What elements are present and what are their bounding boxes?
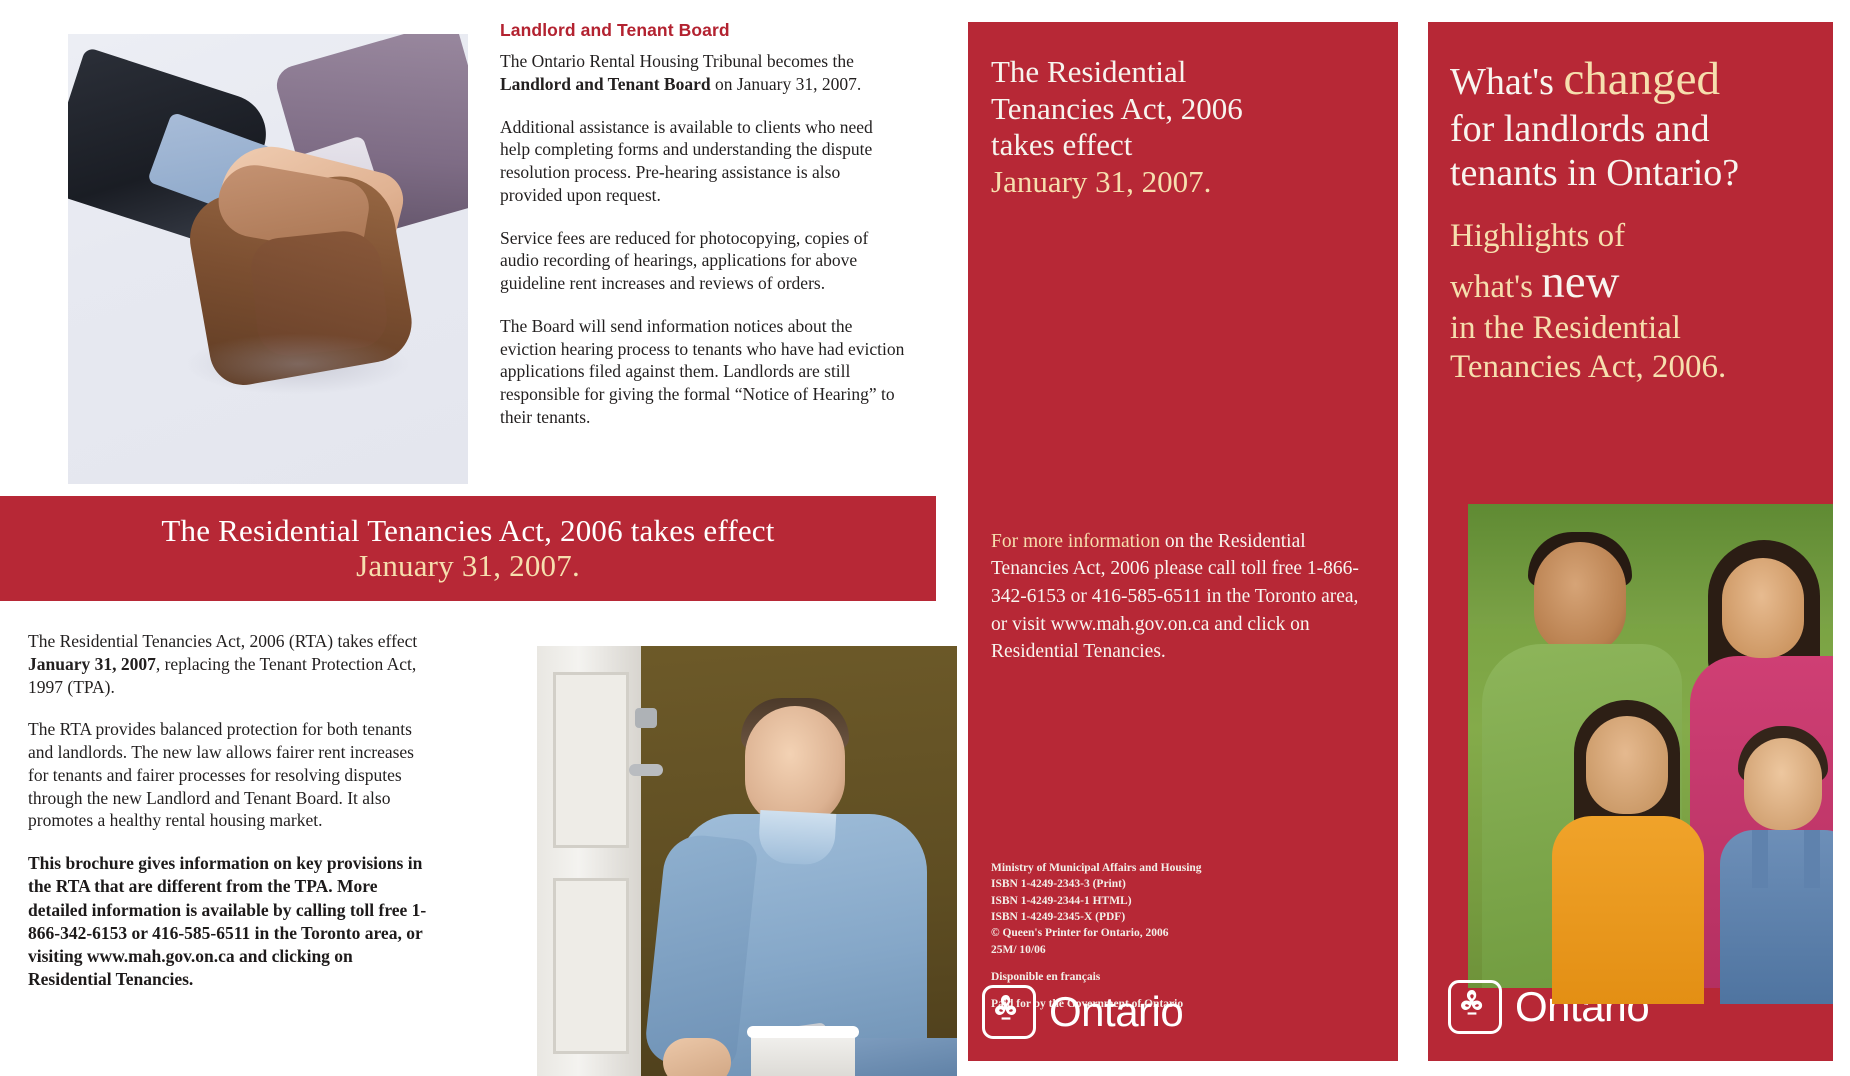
painter-door-handle bbox=[629, 764, 663, 776]
panel-inner-spread: Landlord and Tenant Board The Ontario Re… bbox=[0, 0, 945, 1073]
front-headline-whats-2: what's bbox=[1450, 269, 1541, 305]
family-photo bbox=[1468, 504, 1833, 1004]
paragraph-balanced-protection: The RTA provides balanced protection for… bbox=[28, 718, 434, 832]
paragraph-brochure-contact-bold: This brochure gives information on key p… bbox=[28, 852, 434, 992]
front-headline-line-2: for landlords and bbox=[1450, 107, 1818, 151]
back-headline-line-2: Tenancies Act, 2006 bbox=[991, 91, 1361, 128]
family-baby-overall-strap-left bbox=[1752, 830, 1768, 888]
paragraph-rta-takes-effect: The Residential Tenancies Act, 2006 (RTA… bbox=[28, 630, 434, 698]
fine-print-copyright: © Queen's Printer for Ontario, 2006 bbox=[991, 925, 1321, 941]
landlord-tenant-board-column: Landlord and Tenant Board The Ontario Re… bbox=[500, 20, 905, 429]
family-baby-head bbox=[1744, 738, 1822, 830]
paragraph-1-bold: Landlord and Tenant Board bbox=[500, 74, 711, 94]
front-headline-line-5: what's new bbox=[1450, 255, 1818, 310]
banner-line-2: January 31, 2007. bbox=[356, 549, 580, 584]
painter-hand bbox=[663, 1038, 731, 1076]
ontario-logo-back-cover: Ontario bbox=[982, 985, 1183, 1039]
front-headline-whats: What's bbox=[1450, 61, 1563, 103]
back-cover-headline: The Residential Tenancies Act, 2006 take… bbox=[991, 54, 1361, 200]
paragraph-service-fees: Service fees are reduced for photocopyin… bbox=[500, 227, 905, 295]
fine-print-isbn-html: ISBN 1-4249-2344-1 HTML) bbox=[991, 893, 1321, 909]
front-headline-changed: changed bbox=[1563, 53, 1720, 105]
family-girl-head bbox=[1586, 716, 1668, 814]
family-baby-overall-strap-right bbox=[1804, 830, 1820, 888]
panel-front-cover: What's changed for landlords and tenants… bbox=[1428, 22, 1833, 1061]
lower-p1-bold: January 31, 2007 bbox=[28, 654, 156, 674]
front-headline-spacer bbox=[1450, 195, 1818, 217]
trillium-icon bbox=[982, 985, 1036, 1039]
back-headline-line-4: January 31, 2007. bbox=[991, 164, 1361, 201]
paragraph-1-post: on January 31, 2007. bbox=[711, 74, 862, 94]
paragraph-eviction-notices: The Board will send information notices … bbox=[500, 315, 905, 429]
fine-print-isbn-print: ISBN 1-4249-2343-3 (Print) bbox=[991, 876, 1321, 892]
brochure-page: Landlord and Tenant Board The Ontario Re… bbox=[0, 0, 1850, 1073]
contact-lead-text: For more information bbox=[991, 531, 1160, 552]
lower-p1-pre: The Residential Tenancies Act, 2006 (RTA… bbox=[28, 631, 417, 651]
fine-print-spacer-1 bbox=[991, 958, 1321, 969]
family-girl-body bbox=[1552, 816, 1704, 1004]
paragraph-tribunal-becomes-board: The Ontario Rental Housing Tribunal beco… bbox=[500, 50, 905, 96]
front-headline-line-1: What's changed bbox=[1450, 52, 1818, 107]
front-headline-new: new bbox=[1541, 256, 1619, 308]
fine-print-print-run: 25M/ 10/06 bbox=[991, 942, 1321, 958]
back-contact-information: For more information on the Residential … bbox=[991, 528, 1371, 666]
painter-door-lock bbox=[635, 708, 657, 728]
banner-line-1: The Residential Tenancies Act, 2006 take… bbox=[161, 514, 774, 549]
fine-print-isbn-pdf: ISBN 1-4249-2345-X (PDF) bbox=[991, 909, 1321, 925]
front-headline-line-6: in the Residential bbox=[1450, 309, 1818, 347]
handshake-shadow bbox=[188, 334, 408, 394]
paragraph-1-pre: The Ontario Rental Housing Tribunal beco… bbox=[500, 51, 854, 71]
trillium-icon bbox=[1448, 980, 1502, 1034]
back-headline-line-3: takes effect bbox=[991, 127, 1361, 164]
fine-print-ministry: Ministry of Municipal Affairs and Housin… bbox=[991, 860, 1321, 876]
painter-photo bbox=[537, 646, 957, 1076]
section-heading-landlord-tenant-board: Landlord and Tenant Board bbox=[500, 20, 905, 41]
lower-text-column: The Residential Tenancies Act, 2006 (RTA… bbox=[28, 630, 434, 992]
paint-bucket-rim bbox=[747, 1026, 859, 1038]
paragraph-additional-assistance: Additional assistance is available to cl… bbox=[500, 116, 905, 207]
red-banner-takes-effect: The Residential Tenancies Act, 2006 take… bbox=[0, 496, 936, 601]
family-mother-head bbox=[1722, 558, 1804, 658]
paint-bucket bbox=[751, 1032, 855, 1076]
panel-back-cover: The Residential Tenancies Act, 2006 take… bbox=[968, 22, 1398, 1061]
painter-door-panel-top bbox=[553, 672, 629, 848]
front-headline-line-4: Highlights of bbox=[1450, 217, 1818, 255]
painter-door-panel-bottom bbox=[553, 878, 629, 1054]
front-headline-line-7: Tenancies Act, 2006. bbox=[1450, 348, 1818, 386]
fine-print-french: Disponible en français bbox=[991, 969, 1321, 985]
front-cover-headline: What's changed for landlords and tenants… bbox=[1450, 52, 1818, 386]
front-headline-line-3: tenants in Ontario? bbox=[1450, 151, 1818, 195]
family-father-head bbox=[1534, 542, 1626, 654]
ontario-wordmark: Ontario bbox=[1049, 991, 1183, 1033]
handshake-photo bbox=[68, 34, 468, 484]
back-headline-line-1: The Residential bbox=[991, 54, 1361, 91]
painter-head bbox=[745, 706, 845, 826]
